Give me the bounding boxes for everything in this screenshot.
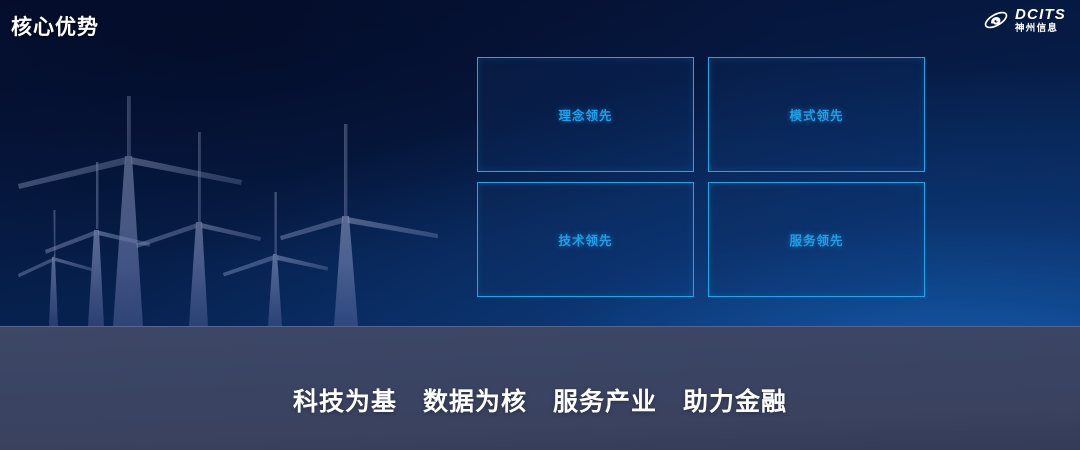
- advantage-card-label: 服务领先: [789, 230, 843, 249]
- turbine-medium-center: [136, 132, 261, 326]
- galaxy-swirl-icon: [983, 7, 1009, 33]
- wind-turbines-svg: [18, 96, 438, 326]
- brand-name-cn: 神州信息: [1015, 24, 1066, 34]
- tagline-segment-1: 科技为基: [293, 388, 397, 416]
- page-title: 核心优势: [11, 11, 99, 41]
- advantage-card-2[interactable]: 模式领先: [708, 57, 925, 172]
- turbine-tall-right: [280, 124, 438, 326]
- tagline-segment-4: 助力金融: [683, 388, 787, 416]
- advantage-card-1[interactable]: 理念领先: [477, 57, 694, 172]
- slide-root: 核心优势 DCITS 神州信息 理念领先 模式领先 技术领先 服务领先: [0, 0, 1080, 450]
- advantage-card-label: 理念领先: [558, 105, 612, 124]
- brand-name-en: DCITS: [1015, 7, 1066, 22]
- tagline-band: 科技为基 数据为核 服务产业 助力金融: [0, 326, 1080, 450]
- tagline-segment-3: 服务产业: [553, 388, 657, 416]
- brand-logo: DCITS 神州信息: [983, 7, 1066, 34]
- turbine-small-right: [223, 192, 328, 326]
- turbine-small-left: [18, 210, 92, 326]
- advantage-card-grid: 理念领先 模式领先 技术领先 服务领先: [477, 57, 925, 297]
- advantage-card-4[interactable]: 服务领先: [708, 182, 925, 297]
- wind-turbines-illustration: [18, 96, 438, 326]
- advantage-card-label: 技术领先: [558, 230, 612, 249]
- advantage-card-label: 模式领先: [789, 105, 843, 124]
- brand-wordmark: DCITS 神州信息: [1015, 7, 1066, 34]
- tagline-segment-2: 数据为核: [423, 388, 527, 416]
- advantage-card-3[interactable]: 技术领先: [477, 182, 694, 297]
- tagline: 科技为基 数据为核 服务产业 助力金融: [284, 382, 796, 418]
